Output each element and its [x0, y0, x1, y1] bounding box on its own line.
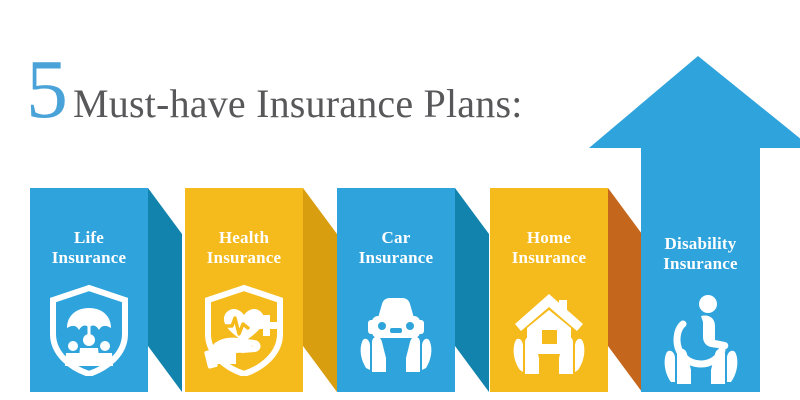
column-home-insurance[interactable]: Home Insurance: [490, 188, 608, 392]
title-text: Must-have Insurance Plans:: [73, 84, 523, 124]
infographic-canvas: 5 Must-have Insurance Plans: Life Insura…: [0, 0, 800, 400]
column-life-insurance[interactable]: Life Insurance: [30, 188, 148, 392]
house-in-hands-icon: [507, 284, 591, 376]
column-health-insurance[interactable]: Health Insurance: [185, 188, 303, 392]
shield-umbrella-family-icon: [47, 284, 131, 376]
wheelchair-in-hands-icon: [655, 288, 747, 384]
column-side-panel: [148, 188, 182, 392]
column-side-panel: [608, 188, 642, 392]
column-side-panel: [303, 188, 337, 392]
car-in-hands-icon: [354, 284, 438, 376]
page-title: 5 Must-have Insurance Plans:: [26, 52, 523, 128]
column-disability-insurance[interactable]: Disability Insurance: [641, 188, 760, 392]
column-car-insurance[interactable]: Car Insurance: [337, 188, 455, 392]
column-side-panel: [455, 188, 489, 392]
shield-heart-hand-icon: [202, 284, 286, 376]
title-number: 5: [26, 52, 67, 128]
